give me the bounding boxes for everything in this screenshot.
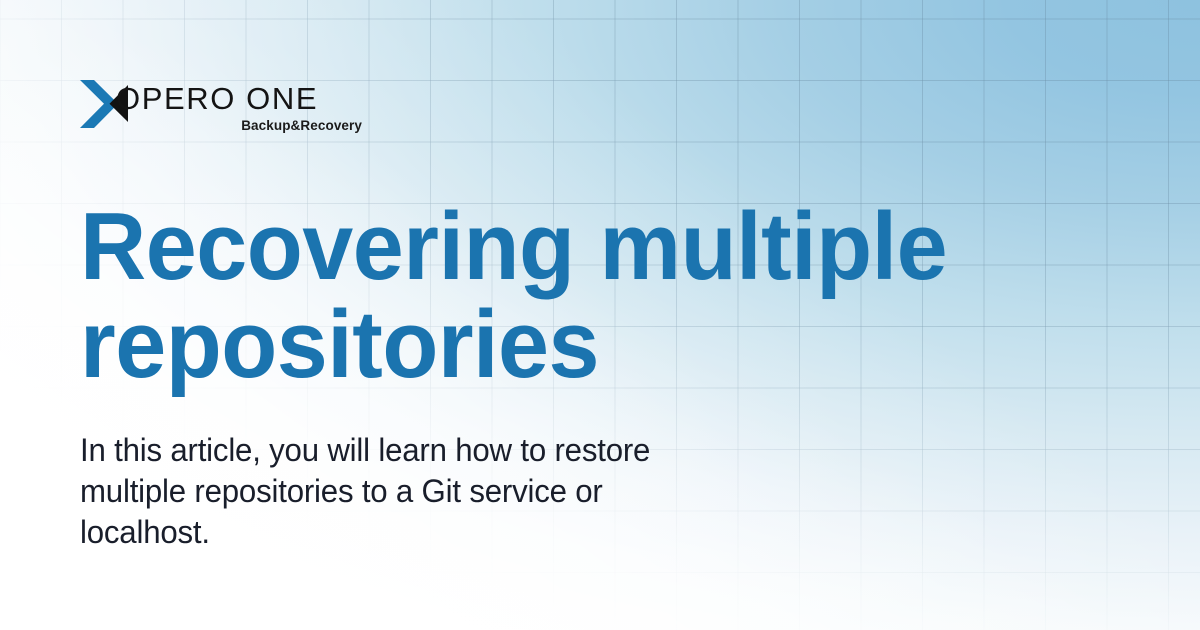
article-hero-banner: OPERO ONE Backup&Recovery Recovering mul… [0, 0, 1200, 630]
xopero-one-logo[interactable]: OPERO ONE Backup&Recovery [78, 78, 338, 144]
page-subtitle: In this article, you will learn how to r… [80, 430, 821, 553]
logo-tagline: Backup&Recovery [116, 118, 362, 134]
logo-wordmark: OPERO ONE [116, 80, 318, 118]
page-title: Recovering multiple repositories [80, 198, 1045, 394]
banner-content: OPERO ONE Backup&Recovery Recovering mul… [0, 0, 1200, 630]
